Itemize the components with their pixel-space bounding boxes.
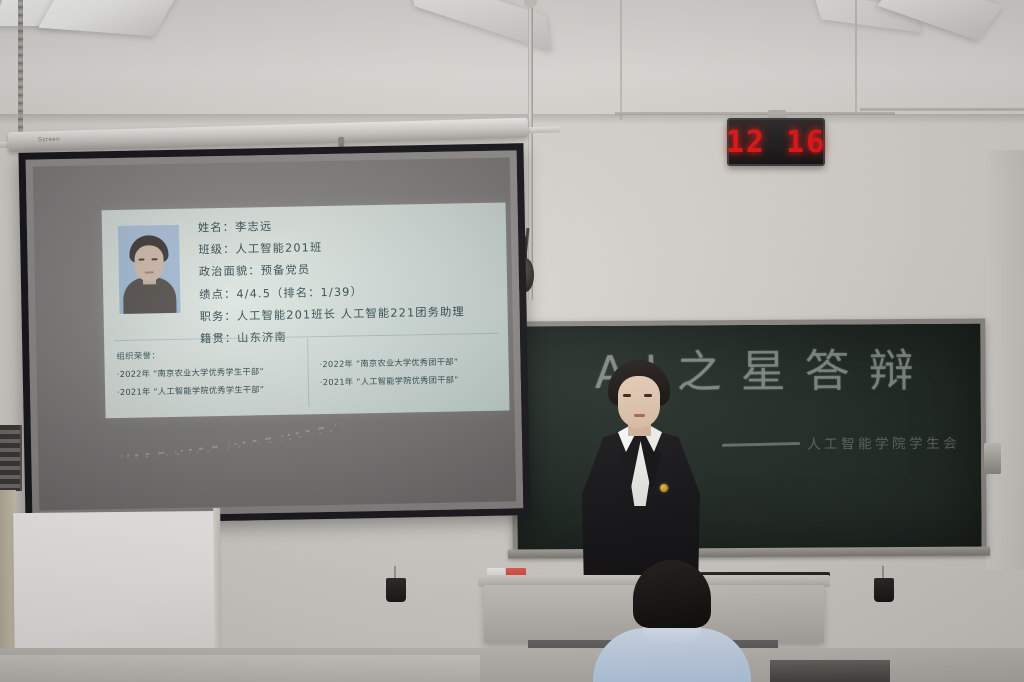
gold-lapel-pin-icon: [660, 484, 668, 492]
award-item: ·2022年 “南京农业大学优秀学生干部”: [117, 364, 307, 380]
projector-screen: 姓名：李志远 班级：人工智能201班 政治面貌：预备党员 绩点：4/4.5（排名…: [18, 143, 530, 525]
hanging-chain: [18, 0, 23, 132]
floor-left: [0, 655, 480, 682]
wall-speaker-right: [874, 578, 894, 602]
wall-vent: [0, 425, 22, 491]
wall-seam: [620, 0, 622, 120]
wall-speaker-left: [386, 578, 406, 602]
seated-collar: [643, 626, 701, 644]
digital-wall-clock: 12 16: [727, 118, 825, 166]
awards-title: 组织荣誉：: [116, 346, 306, 362]
board-eraser[interactable]: [984, 443, 1001, 474]
blackboard-subtitle: 人工智能学院学生会: [807, 432, 960, 453]
slide-decorative-swoosh: [117, 422, 348, 460]
seated-audience-member: [585, 560, 755, 682]
presenter-eye: [644, 394, 652, 397]
classroom-scene: Screen 12 16 AI之星答辩 人工智能学院学生会: [0, 0, 1024, 682]
presenter-face: [618, 376, 660, 428]
slide-info-line: 绩点：4/4.5（排名：1/39）: [199, 283, 499, 300]
wall-seam: [860, 108, 1024, 111]
slide-content-card: 姓名：李志远 班级：人工智能201班 政治面貌：预备党员 绩点：4/4.5（排名…: [102, 203, 510, 419]
clock-time-display: 12 16: [726, 125, 826, 160]
whiteboard: [13, 511, 219, 665]
dark-desk-right: [770, 660, 890, 682]
presenter-eye: [623, 394, 631, 397]
award-item: ·2021年 “人工智能学院优秀学生干部”: [117, 382, 307, 398]
seated-hair: [633, 560, 711, 628]
screen-frame: 姓名：李志远 班级：人工智能201班 政治面貌：预备党员 绩点：4/4.5（排名…: [18, 143, 530, 525]
blackboard-dash: [722, 442, 800, 447]
metal-pole: [528, 0, 533, 300]
roller-pin: [338, 137, 344, 147]
slide-info-line: 姓名：李志远: [198, 217, 498, 234]
slide-awards-right: ·2022年 “南京农业大学优秀团干部” ·2021年 “人工智能学院优秀团干部…: [319, 354, 510, 394]
slide-info-line: 职务：人工智能201班长 人工智能221团务助理: [200, 305, 500, 322]
award-item: ·2022年 “南京农业大学优秀团干部”: [319, 354, 509, 370]
slide-id-photo: [118, 225, 181, 314]
presenter-mouth: [634, 414, 645, 417]
right-wall-panel: [986, 150, 1024, 570]
slide-awards-left: 组织荣誉： ·2022年 “南京农业大学优秀学生干部” ·2021年 “人工智能…: [116, 346, 307, 404]
slide-info-line: 班级：人工智能201班: [198, 239, 498, 256]
award-item: ·2021年 “人工智能学院优秀团干部”: [320, 372, 510, 388]
roller-label: Screen: [38, 137, 60, 144]
slide-info-line: 政治面貌：预备党员: [199, 261, 499, 278]
wall-seam: [855, 0, 857, 112]
whiteboard-edge: [213, 508, 222, 668]
